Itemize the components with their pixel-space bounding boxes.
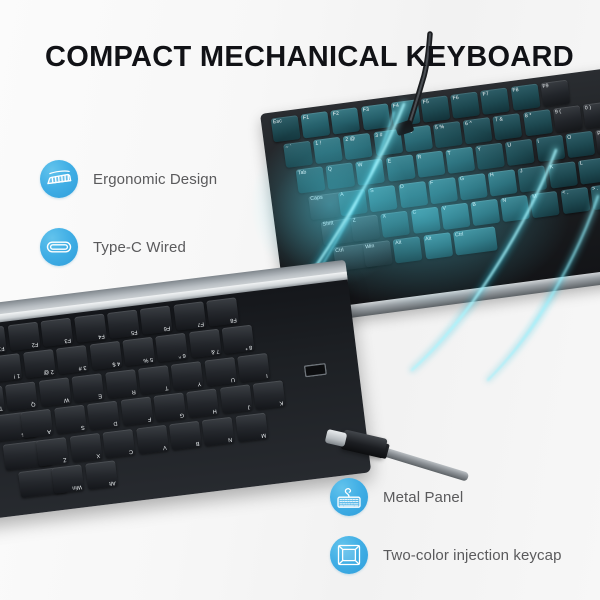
key: 8 * [523, 109, 553, 136]
key: D [87, 401, 120, 430]
key: F [120, 397, 153, 426]
key: 1 ! [0, 353, 23, 382]
keyboard-side-profile-icon [40, 160, 78, 198]
key: F1 [301, 111, 331, 138]
usb-type-c-connector-icon [40, 228, 78, 266]
key: F6 [140, 305, 173, 334]
feature-two-color-injection-keycap: Two-color injection keycap [330, 536, 562, 574]
key: U [204, 357, 237, 386]
key: X [380, 210, 410, 237]
key: I [237, 353, 270, 382]
key: 2 @ [343, 133, 373, 160]
key: Alt [393, 236, 423, 263]
key: G [458, 173, 488, 200]
key: L [578, 157, 600, 184]
key: R [105, 369, 138, 398]
key: F8 [510, 84, 540, 111]
key: 5 % [433, 121, 463, 148]
key: H [187, 389, 220, 418]
key: 4 $ [403, 125, 433, 152]
key: W [356, 159, 386, 186]
key: E [385, 155, 415, 182]
key: G [153, 393, 186, 422]
key: J [220, 384, 253, 413]
key: F4 [74, 314, 107, 343]
key: < , [560, 187, 590, 214]
product-marketing-canvas: EscF1F2F3F4F5F6F7F8F9~ `1 !2 @3 #4 $5 %6… [0, 0, 600, 600]
braided-cable [379, 446, 470, 482]
key: C [410, 206, 440, 233]
key: Y [475, 143, 505, 170]
key: H [488, 169, 518, 196]
feature-label: Metal Panel [383, 489, 463, 506]
key: Win [52, 464, 85, 493]
key: B [169, 420, 202, 449]
key: F6 [450, 91, 480, 118]
keyboard-with-cable-icon [330, 478, 368, 516]
feature-ergonomic-design: Ergonomic Design [40, 160, 217, 198]
key: Alt [85, 460, 118, 489]
key: ~ ` [283, 141, 313, 168]
key: 1 ! [313, 137, 343, 164]
key: Z [351, 214, 381, 241]
key: U [505, 139, 535, 166]
key: F2 [7, 322, 40, 351]
key: F3 [361, 103, 391, 130]
key: N [202, 416, 235, 445]
key: 8 * [222, 325, 255, 354]
key: F7 [173, 301, 206, 330]
key: 6 ^ [156, 333, 189, 362]
key: F5 [107, 309, 140, 338]
key: F8 [206, 297, 239, 326]
page-title: COMPACT MECHANICAL KEYBOARD [45, 41, 574, 74]
key: 7 & [493, 113, 523, 140]
key: 4 $ [89, 341, 122, 370]
key: O [565, 131, 595, 158]
key: T [445, 147, 475, 174]
keycap-3d-outline-icon [330, 536, 368, 574]
feature-metal-panel: Metal Panel [330, 478, 463, 516]
key: Alt [423, 232, 453, 259]
key: 5 % [122, 337, 155, 366]
key: 3 # [56, 345, 89, 374]
key: A [338, 189, 368, 216]
key: N [500, 195, 530, 222]
key: 2 @ [23, 349, 56, 378]
key: K [548, 161, 578, 188]
key: Z [36, 437, 69, 466]
key: A [21, 409, 54, 438]
key: F9 [540, 80, 570, 107]
key: 6 ^ [463, 117, 493, 144]
key: 3 # [373, 129, 403, 156]
key: F7 [480, 87, 510, 114]
key: Esc [271, 115, 301, 142]
key: 9 ( [553, 105, 583, 132]
key: V [136, 424, 169, 453]
key: F4 [390, 99, 420, 126]
key: M [530, 191, 560, 218]
key: T [138, 365, 171, 394]
key: 0 ) [583, 101, 600, 128]
key: S [368, 185, 398, 212]
key: K [253, 380, 286, 409]
feature-label: Two-color injection keycap [383, 547, 562, 564]
usb-c-plug-body [340, 429, 387, 458]
key: C [103, 428, 136, 457]
feature-label: Ergonomic Design [93, 171, 217, 188]
key: X [69, 433, 102, 462]
key: Q [326, 163, 356, 190]
feature-type-c-wired: Type-C Wired [40, 228, 186, 266]
key: 7 & [189, 329, 222, 358]
key: F5 [420, 95, 450, 122]
feature-label: Type-C Wired [93, 239, 186, 256]
key: J [518, 165, 548, 192]
key: W [38, 377, 71, 406]
key: M [235, 412, 268, 441]
key: S [54, 405, 87, 434]
key: Y [171, 361, 204, 390]
key: F3 [41, 318, 74, 347]
key: F [428, 177, 458, 204]
key: R [415, 151, 445, 178]
key: E [72, 373, 105, 402]
key: V [440, 202, 470, 229]
key: F2 [331, 107, 361, 134]
key: B [470, 199, 500, 226]
key: I [535, 135, 565, 162]
key: Win [363, 240, 393, 267]
key: D [398, 181, 428, 208]
key: Tab [296, 167, 326, 194]
key: Q [5, 381, 38, 410]
